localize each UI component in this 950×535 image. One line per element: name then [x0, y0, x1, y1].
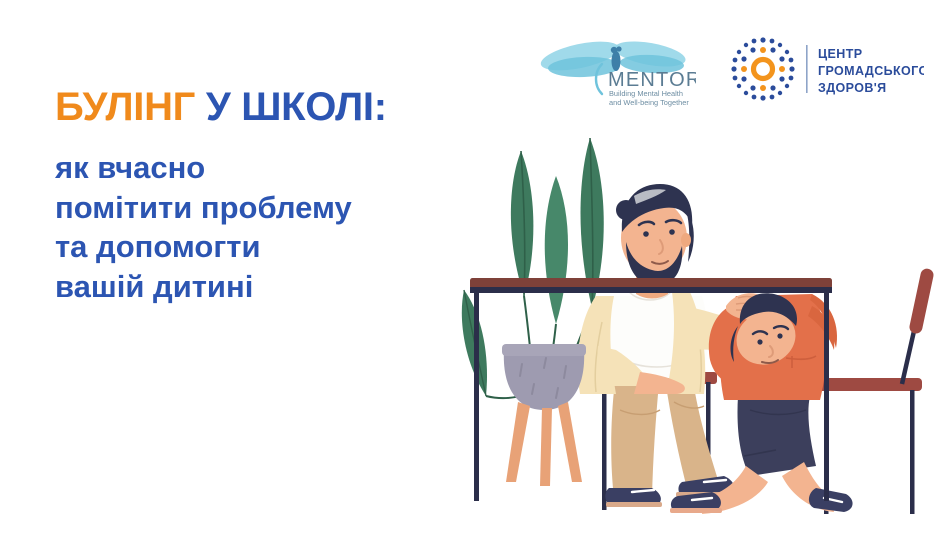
- mentor-tagline-line2: and Well-being Together: [609, 98, 689, 107]
- headline-blue-part: У ШКОЛІ:: [206, 85, 387, 129]
- child-eye-left: [757, 339, 762, 344]
- dot-diamond-icon: [731, 37, 794, 100]
- headline-orange-part: БУЛІНГ: [55, 85, 195, 129]
- poster-canvas: MENTOR Building Mental Health and Well-b…: [0, 0, 950, 535]
- chz-name-line3: ЗДОРОВ'Я: [818, 81, 887, 95]
- mentor-wordmark: MENTOR: [608, 69, 696, 91]
- table-leg-right: [824, 289, 829, 501]
- mentor-tagline-line1: Building Mental Health: [609, 89, 683, 98]
- adult-hair-bun: [616, 200, 636, 220]
- pot-leg-right: [558, 402, 582, 482]
- chz-name-line1: ЦЕНТР: [818, 47, 862, 61]
- adult-eye-left: [643, 231, 649, 237]
- plant-pot: [502, 344, 586, 486]
- pot-leg-mid: [540, 408, 552, 486]
- chair-right: [818, 267, 935, 514]
- table-leg-left: [474, 289, 479, 501]
- pot-leg-left: [506, 402, 530, 482]
- logo-row: MENTOR Building Mental Health and Well-b…: [528, 28, 924, 110]
- child-eye-right: [777, 333, 782, 338]
- public-health-center-logo: ЦЕНТР ГРОМАДСЬКОГО ЗДОРОВ'Я: [726, 32, 924, 106]
- logo-divider: [806, 45, 808, 93]
- table-rim: [470, 287, 832, 293]
- adult-eye-right: [669, 229, 675, 235]
- chair-backrest: [908, 267, 934, 334]
- chz-name-line2: ГРОМАДСЬКОГО: [818, 64, 924, 78]
- mentor-logo: MENTOR Building Mental Health and Well-b…: [528, 28, 696, 110]
- illustration: [420, 110, 950, 535]
